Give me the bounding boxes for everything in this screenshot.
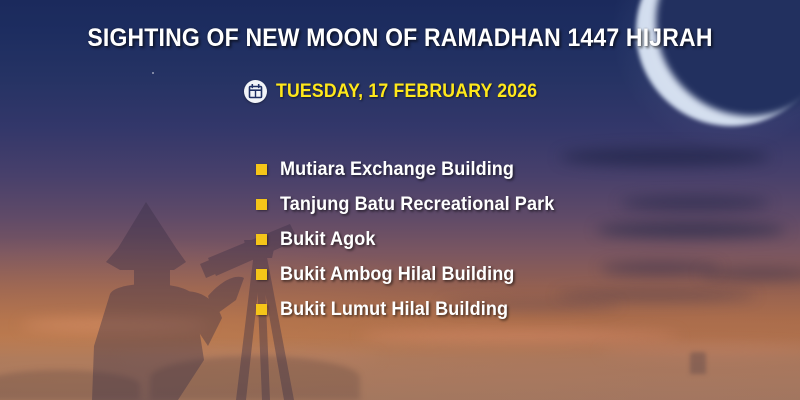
poster-content: SIGHTING OF NEW MOON OF RAMADHAN 1447 HI…: [0, 0, 800, 400]
square-bullet-icon: [256, 199, 267, 210]
venue-list: Mutiara Exchange Building Tanjung Batu R…: [256, 152, 569, 327]
list-item: Bukit Agok: [256, 222, 569, 257]
list-item: Bukit Lumut Hilal Building: [256, 292, 569, 327]
list-item: Bukit Ambog Hilal Building: [256, 257, 569, 292]
square-bullet-icon: [256, 304, 267, 315]
venue-label: Bukit Agok: [280, 229, 376, 251]
event-date: TUESDAY, 17 FEBRUARY 2026: [276, 81, 537, 103]
square-bullet-icon: [256, 164, 267, 175]
venue-label: Mutiara Exchange Building: [280, 159, 514, 181]
venue-label: Tanjung Batu Recreational Park: [280, 194, 554, 216]
square-bullet-icon: [256, 269, 267, 280]
list-item: Tanjung Batu Recreational Park: [256, 187, 569, 222]
page-title: SIGHTING OF NEW MOON OF RAMADHAN 1447 HI…: [32, 24, 768, 53]
venue-label: Bukit Ambog Hilal Building: [280, 264, 514, 286]
list-item: Mutiara Exchange Building: [256, 152, 569, 187]
calendar-icon: [244, 80, 267, 103]
poster-canvas: SIGHTING OF NEW MOON OF RAMADHAN 1447 HI…: [0, 0, 800, 400]
date-row: TUESDAY, 17 FEBRUARY 2026: [0, 80, 800, 103]
venue-label: Bukit Lumut Hilal Building: [280, 299, 508, 321]
square-bullet-icon: [256, 234, 267, 245]
